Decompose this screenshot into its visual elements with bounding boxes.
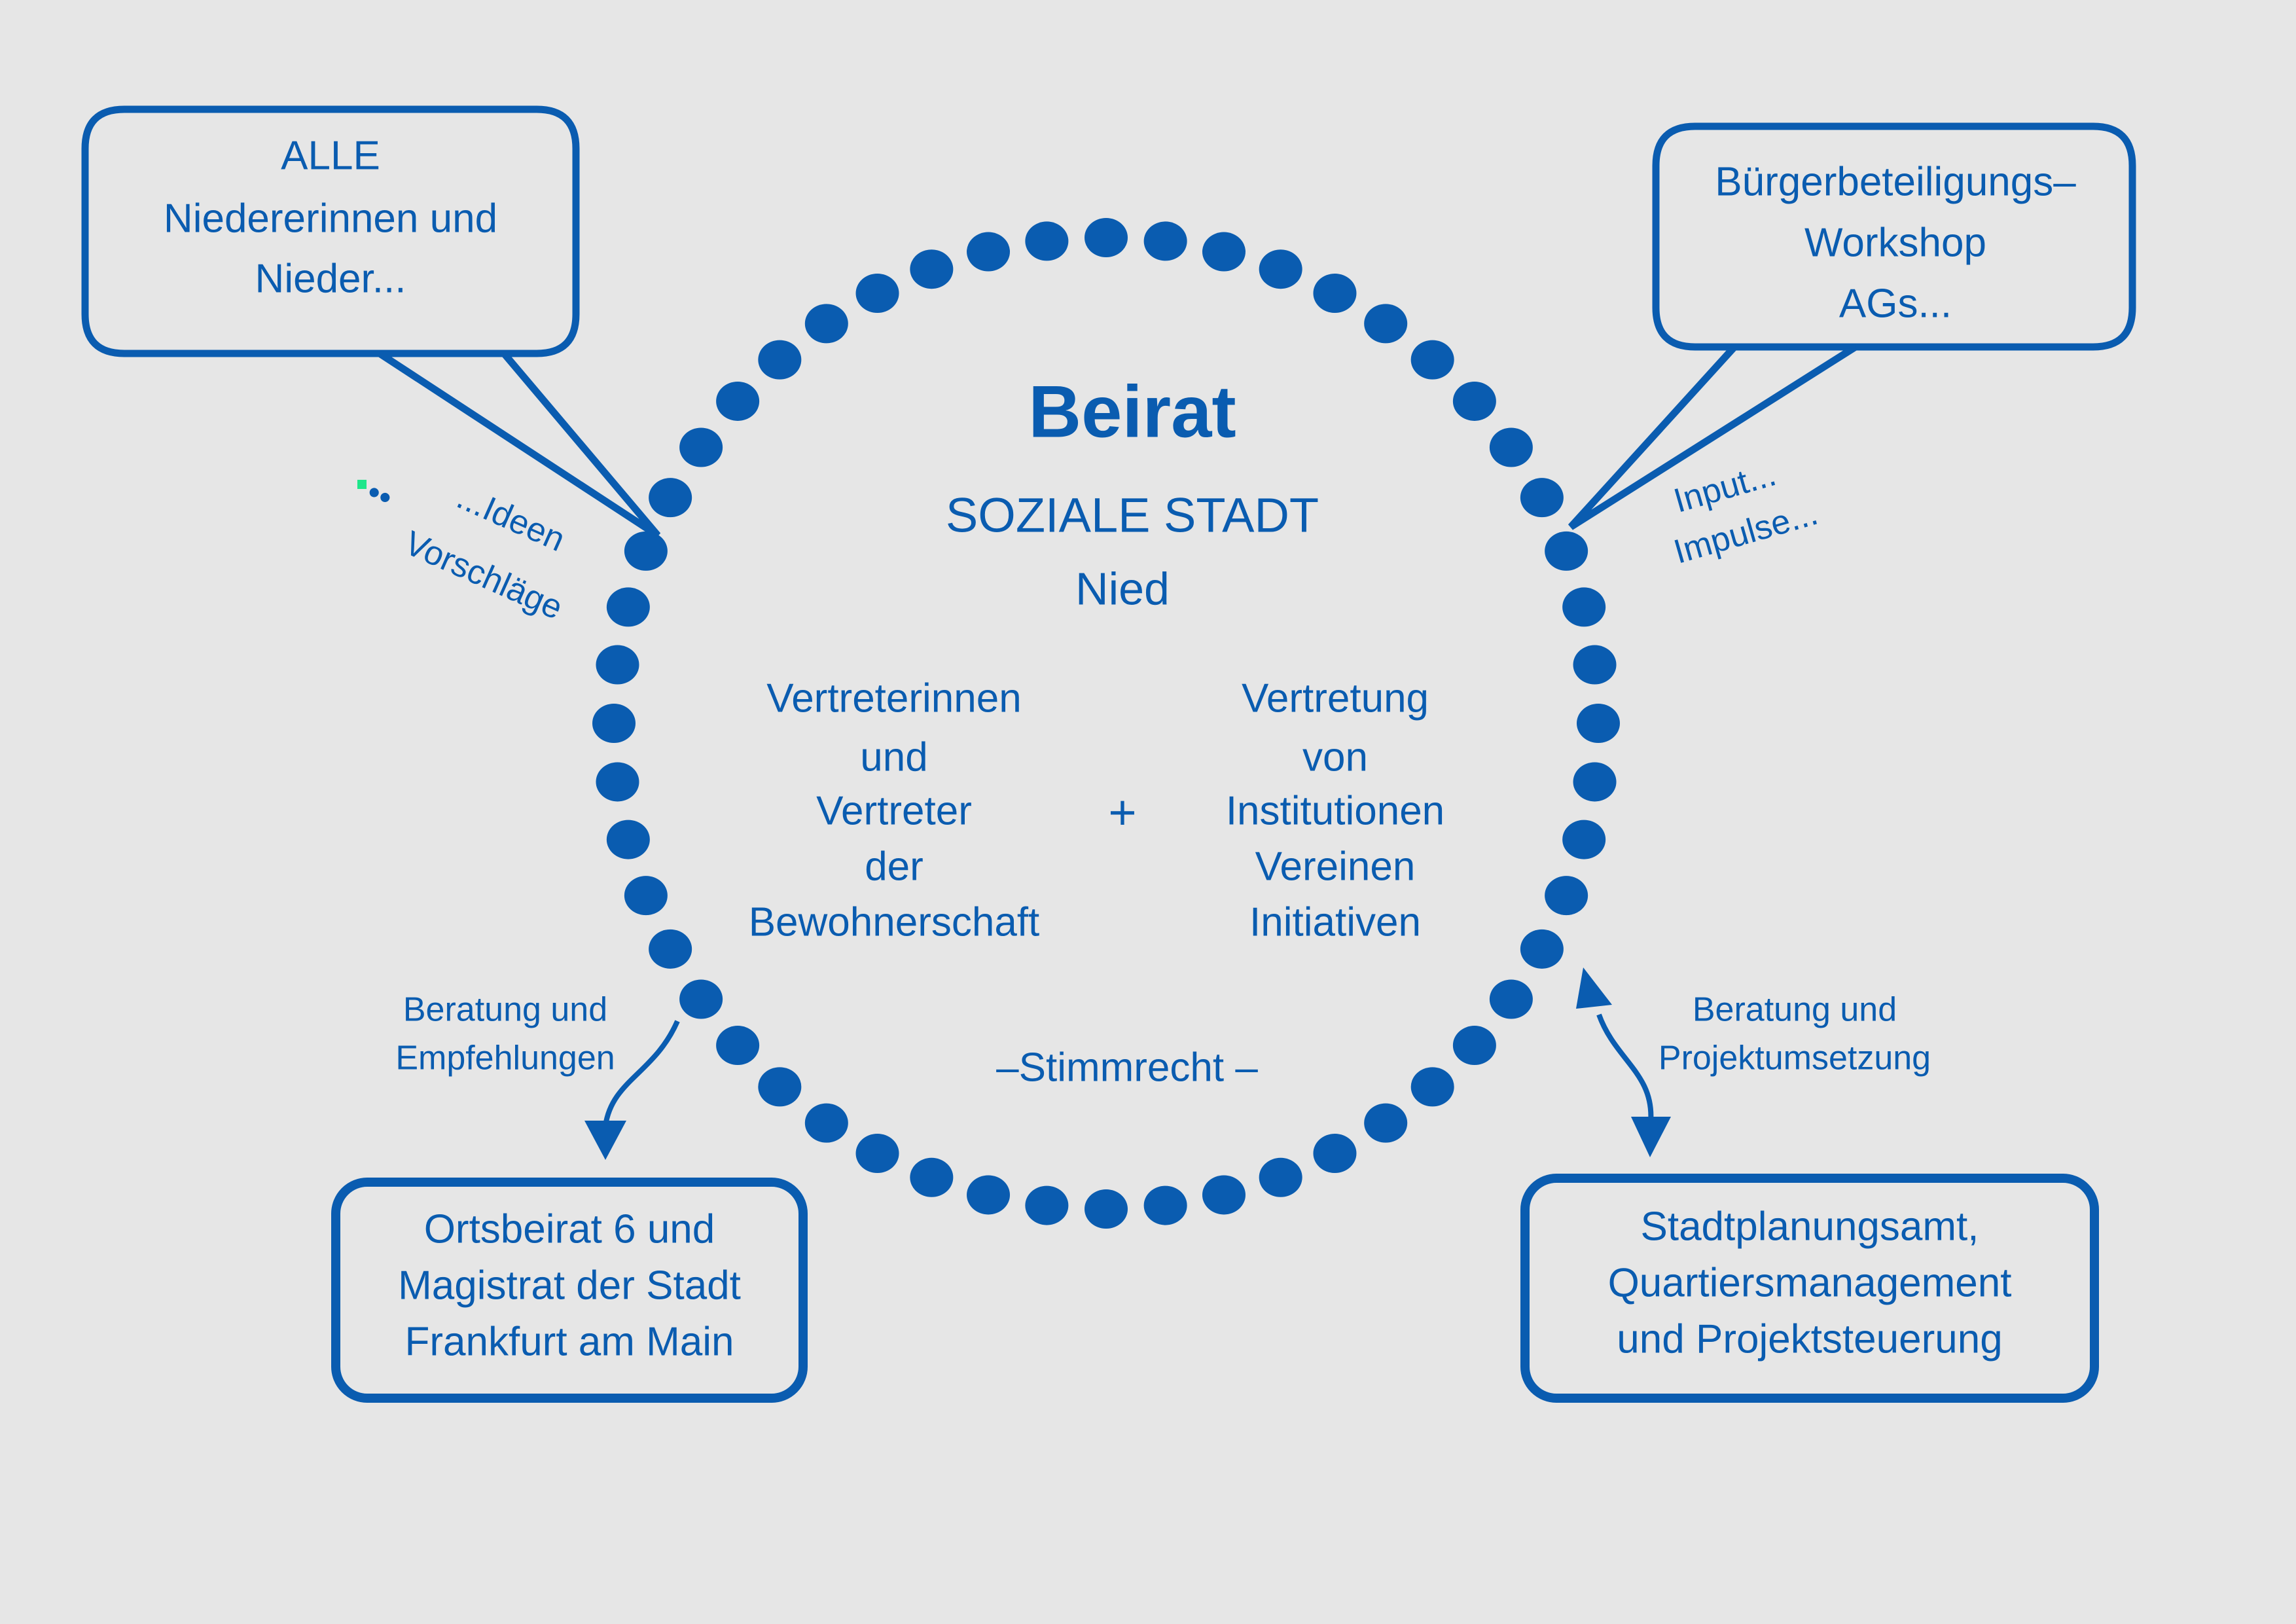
left-col-line4: der [865, 844, 924, 889]
right-output-arrow-head-up [1576, 967, 1612, 1009]
circle-dot [1453, 1026, 1496, 1065]
bubble-tl-line3: Nieder... [255, 256, 406, 301]
circle-dot [1202, 232, 1246, 272]
left-col-line1: Vertreterinnen [766, 676, 1021, 721]
circle-dot [1490, 428, 1533, 467]
bubble-tr-line3: AGs... [1839, 281, 1952, 326]
green-marker-dot [357, 480, 367, 489]
circle-dot [607, 820, 650, 859]
circle-dot [910, 1158, 953, 1197]
circle-dot [624, 532, 668, 571]
circle-dot [758, 340, 801, 380]
center-footnote: –Stimmrecht – [996, 1045, 1258, 1090]
circle-dot [1085, 1189, 1128, 1229]
right-col-line1: Vertretung [1242, 676, 1429, 721]
circle-dot [1520, 929, 1564, 969]
circle-dot [1545, 876, 1588, 915]
beirat-soziale-stadt-diagram: ALLE Niedererinnen und Nieder... Bürgerb… [0, 0, 2296, 1624]
circle-dot [805, 1104, 848, 1143]
right-col-line4: Vereinen [1255, 844, 1416, 889]
circle-dot [1490, 980, 1533, 1019]
circle-dot [596, 645, 639, 685]
circle-dot [649, 929, 692, 969]
destination-box-bottom-left[interactable]: Ortsbeirat 6 und Magistrat der Stadt Fra… [336, 1182, 803, 1398]
left-col-line2: und [860, 734, 927, 780]
dest-br-line2: Quartiersmanagement [1608, 1260, 2012, 1305]
flow-label-left-input: •• ...Ideen Vorschläge [357, 473, 571, 628]
flow-arrow-left-output: Beratung und Empfehlungen [395, 991, 677, 1160]
diagram-canvas: ALLE Niedererinnen und Nieder... Bürgerb… [0, 0, 2296, 1624]
dest-br-line3: und Projektsteuerung [1617, 1316, 2002, 1362]
left-output-line1: Beratung und [403, 991, 607, 1029]
speech-bubble-top-left[interactable]: ALLE Niedererinnen und Nieder... [85, 109, 658, 535]
circle-dot [1025, 221, 1068, 261]
circle-dot [1411, 1067, 1454, 1106]
center-text-block: Beirat SOZIALE STADT Nied Vertreterinnen… [749, 371, 1444, 1091]
circle-dot [1313, 274, 1356, 313]
circle-dot [1573, 645, 1617, 685]
dest-bl-line1: Ortsbeirat 6 und [424, 1206, 715, 1252]
left-col-line3: Vertreter [816, 788, 972, 833]
circle-dot [1562, 820, 1605, 859]
circle-dot [1364, 1104, 1407, 1143]
circle-dot [1545, 532, 1588, 571]
circle-dot [1411, 340, 1454, 380]
right-col-line3: Institutionen [1226, 788, 1444, 833]
center-location: Nied [1075, 563, 1170, 614]
circle-dot [1562, 587, 1605, 626]
right-output-arrow-head-down [1631, 1117, 1671, 1157]
circle-dot [607, 587, 650, 626]
bubble-tl-line1: ALLE [281, 133, 380, 178]
circle-dot [967, 1175, 1010, 1214]
center-title: Beirat [1028, 371, 1236, 453]
right-col-line5: Initiativen [1249, 899, 1421, 945]
left-output-line2: Empfehlungen [395, 1039, 615, 1077]
center-subtitle: SOZIALE STADT [946, 488, 1319, 543]
bubble-tl-line2: Niedererinnen und [164, 196, 497, 241]
left-output-arrow-curve [605, 1021, 677, 1126]
center-operator: + [1108, 785, 1136, 840]
dest-bl-line2: Magistrat der Stadt [398, 1263, 741, 1308]
circle-dot [1144, 221, 1187, 261]
circle-dot [1313, 1134, 1356, 1173]
left-input-line1: ...Ideen [452, 478, 571, 560]
circle-dot [1202, 1175, 1246, 1214]
flow-label-right-input: Input... Impulse... [1670, 455, 1822, 571]
circle-dot [1259, 249, 1302, 289]
bubble-tr-line2: Workshop [1804, 220, 1986, 265]
circle-dot [624, 876, 668, 915]
left-input-marker: •• [361, 473, 399, 518]
circle-dot [1453, 382, 1496, 421]
circle-dot [967, 232, 1010, 272]
dest-bl-line3: Frankfurt am Main [404, 1319, 734, 1364]
circle-dot [856, 1134, 899, 1173]
right-output-line1: Beratung und [1693, 991, 1897, 1029]
left-output-arrow-head [584, 1121, 626, 1160]
circle-dot [596, 762, 639, 801]
right-col-line2: von [1302, 734, 1368, 780]
dest-br-line1: Stadtplanungsamt, [1640, 1204, 1979, 1249]
circle-dot [1085, 218, 1128, 257]
circle-dot [1520, 478, 1564, 517]
circle-dot [1025, 1186, 1068, 1225]
circle-dot [1259, 1158, 1302, 1197]
circle-dot [716, 1026, 759, 1065]
circle-dot [910, 249, 953, 289]
right-output-arrow-curve [1599, 1015, 1651, 1123]
circle-dot [1573, 762, 1617, 801]
circle-dot [1364, 304, 1407, 343]
circle-dot [1577, 704, 1620, 743]
circle-dot [1144, 1186, 1187, 1225]
left-col-line5: Bewohnerschaft [749, 899, 1040, 945]
circle-dot [805, 304, 848, 343]
circle-dot [679, 428, 723, 467]
circle-dot [679, 980, 723, 1019]
destination-box-bottom-right[interactable]: Stadtplanungsamt, Quartiersmanagement un… [1525, 1178, 2094, 1398]
circle-dot [856, 274, 899, 313]
bubble-tr-line1: Bürgerbeteiligungs– [1715, 159, 2076, 204]
circle-dot [716, 382, 759, 421]
circle-dot [758, 1067, 801, 1106]
circle-dot [649, 478, 692, 517]
right-output-line2: Projektumsetzung [1659, 1039, 1931, 1077]
circle-dot [592, 704, 636, 743]
speech-bubble-top-right[interactable]: Bürgerbeteiligungs– Workshop AGs... [1571, 126, 2132, 527]
flow-arrow-right-output: Beratung und Projektumsetzung [1576, 967, 1931, 1157]
